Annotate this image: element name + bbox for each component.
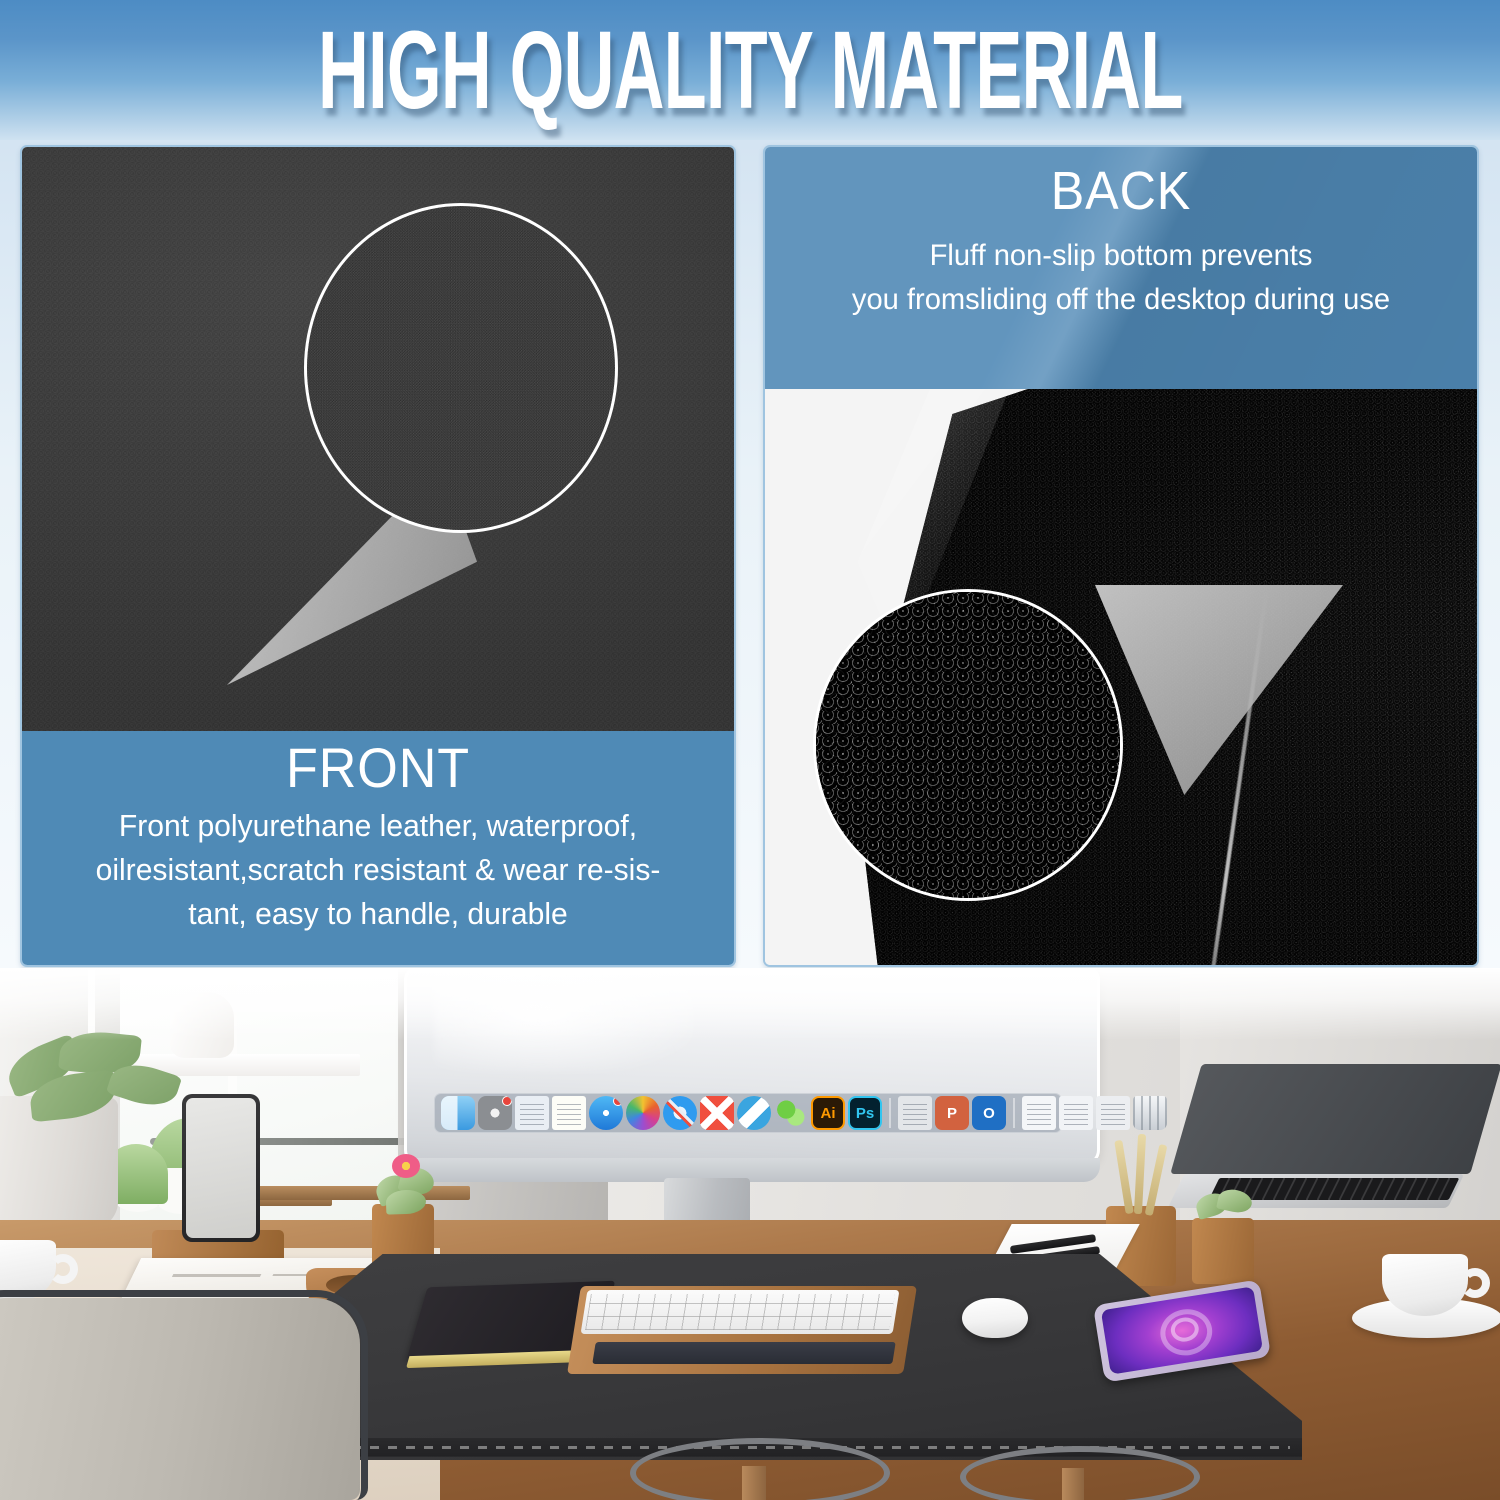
standing-phone — [182, 1094, 260, 1242]
felt-zoom-texture — [813, 589, 1123, 901]
lifestyle-photo: AiPsPO — [0, 968, 1500, 1500]
chair-leg — [1062, 1468, 1084, 1500]
balcony-ledge — [240, 1186, 470, 1200]
preview-glyph — [520, 1101, 544, 1125]
pink-flower — [392, 1154, 420, 1178]
screen-glare — [434, 972, 694, 1072]
notes-glyph — [557, 1101, 581, 1125]
photos-icon[interactable] — [626, 1096, 660, 1130]
page-title: HIGH QUALITY MATERIAL — [318, 15, 1182, 126]
mug-handle — [48, 1254, 78, 1284]
system-preferences-icon[interactable] — [478, 1096, 512, 1130]
leather-zoom-texture — [304, 203, 618, 533]
chair-frame — [0, 1290, 368, 1500]
xmind-glyph — [700, 1096, 734, 1130]
notification-badge — [613, 1096, 623, 1106]
spreadsheet-doc-glyph — [1027, 1101, 1051, 1125]
xmind-icon[interactable] — [700, 1096, 734, 1130]
telegram-glyph — [737, 1096, 771, 1130]
back-description-line-2: you fromsliding off the desktop during u… — [801, 278, 1441, 322]
back-magnifier-lens — [813, 589, 1123, 901]
feature-panels: FRONT Front polyurethane leather, waterp… — [0, 140, 1500, 970]
back-heading: BACK — [790, 163, 1452, 220]
front-magnifier-lens — [304, 203, 618, 533]
chair-leg — [742, 1466, 766, 1500]
wechat-icon[interactable] — [774, 1096, 808, 1130]
photoshop-icon[interactable]: Ps — [848, 1096, 882, 1130]
mouse[interactable] — [962, 1298, 1028, 1338]
front-description-line-1: Front polyurethane leather, waterproof, — [58, 804, 698, 848]
table-doc-icon[interactable] — [1059, 1096, 1093, 1130]
keyboard[interactable] — [581, 1290, 900, 1334]
laptop-lid — [1170, 1064, 1500, 1174]
spreadsheet-doc-icon[interactable] — [1022, 1096, 1056, 1130]
safari-icon[interactable] — [663, 1096, 697, 1130]
monitor-screen: AiPsPO — [404, 968, 1100, 1166]
back-caption: BACK Fluff non-slip bottom prevents you … — [765, 147, 1477, 389]
back-material-photo — [765, 389, 1477, 967]
trash-icon[interactable] — [1133, 1096, 1167, 1130]
back-description: Fluff non-slip bottom prevents you froms… — [776, 220, 1467, 323]
app-store-icon[interactable] — [589, 1096, 623, 1130]
front-material-photo — [22, 147, 734, 731]
dock-separator — [1013, 1098, 1015, 1128]
monitor-chin — [404, 1158, 1100, 1182]
photos-glyph — [626, 1096, 660, 1130]
front-panel: FRONT Front polyurethane leather, waterp… — [20, 145, 736, 967]
wrist-rest — [592, 1342, 895, 1364]
front-caption: FRONT Front polyurethane leather, waterp… — [22, 731, 734, 965]
front-description-line-2: oilresistant,scratch resistant & wear re… — [58, 848, 698, 892]
finder-icon[interactable] — [441, 1096, 475, 1130]
news-doc-icon[interactable] — [1096, 1096, 1130, 1130]
front-heading: FRONT — [47, 739, 709, 798]
standing-phone-screen — [186, 1098, 256, 1238]
keyboard-keys — [585, 1294, 895, 1330]
book-text-line — [172, 1274, 261, 1277]
trash-glyph — [1133, 1096, 1167, 1130]
notes-icon[interactable] — [552, 1096, 586, 1130]
smartphone-screen — [1101, 1286, 1263, 1374]
macos-dock[interactable]: AiPsPO — [434, 1093, 1062, 1133]
back-description-line-1: Fluff non-slip bottom prevents — [801, 234, 1441, 278]
infographic-page: HIGH QUALITY MATERIAL FRONT Front polyur… — [0, 0, 1500, 1500]
header-banner: HIGH QUALITY MATERIAL — [0, 0, 1500, 140]
image-document-icon[interactable] — [898, 1096, 932, 1130]
image-document-glyph — [903, 1101, 927, 1125]
preview-icon[interactable] — [515, 1096, 549, 1130]
illustrator-icon[interactable]: Ai — [811, 1096, 845, 1130]
front-description: Front polyurethane leather, waterproof, … — [33, 798, 724, 936]
table-doc-glyph — [1064, 1101, 1088, 1125]
front-description-line-3: tant, easy to handle, durable — [58, 892, 698, 936]
telegram-icon[interactable] — [737, 1096, 771, 1130]
white-vase — [170, 992, 234, 1058]
back-panel: BACK Fluff non-slip bottom prevents you … — [763, 145, 1479, 967]
dock-separator — [889, 1098, 891, 1128]
safari-glyph — [663, 1096, 697, 1130]
finder-glyph — [441, 1096, 475, 1130]
wechat-glyph — [774, 1096, 808, 1130]
cup-handle — [1460, 1268, 1490, 1298]
small-succulent-planter — [1192, 1218, 1254, 1284]
outlook-icon[interactable]: O — [972, 1096, 1006, 1130]
news-doc-glyph — [1101, 1101, 1125, 1125]
notification-badge — [502, 1096, 512, 1106]
powerpoint-icon[interactable]: P — [935, 1096, 969, 1130]
